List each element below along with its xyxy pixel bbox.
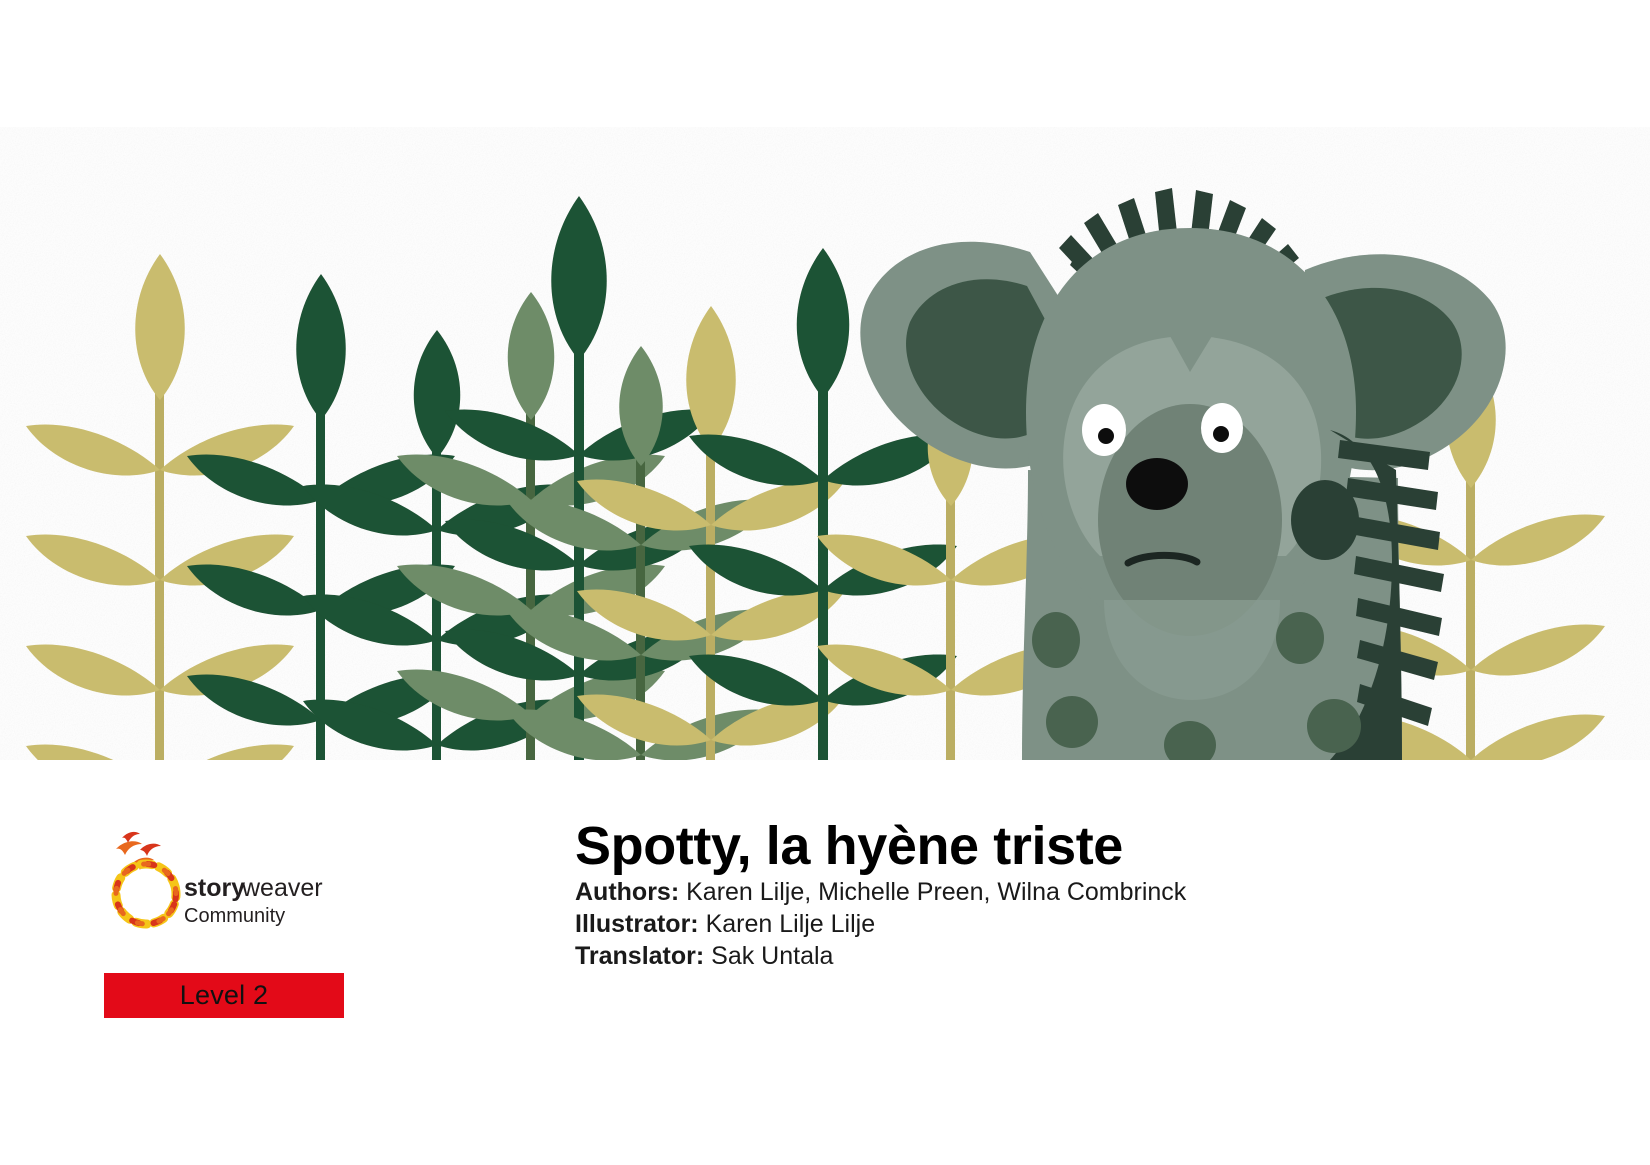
credit-illustrator-value: Karen Lilje Lilje: [706, 910, 876, 938]
credit-translator: Translator: Sak Untala: [575, 940, 1575, 972]
title-block: Spotty, la hyène triste Authors: Karen L…: [575, 818, 1575, 972]
storyweaver-logo-svg: story weaver Community: [104, 816, 332, 936]
credit-authors-value: Karen Lilje, Michelle Preen, Wilna Combr…: [686, 878, 1186, 906]
hyena-scene-svg: [0, 0, 1650, 760]
credit-translator-value: Sak Untala: [711, 942, 833, 970]
credit-authors: Authors: Karen Lilje, Michelle Preen, Wi…: [575, 876, 1575, 908]
credit-illustrator-label: Illustrator:: [575, 910, 699, 938]
cover-illustration: [0, 0, 1650, 760]
logo-tagline: Community: [184, 905, 285, 927]
logo-word-story: story: [184, 874, 245, 902]
cover-info-area: story weaver Community Level 2 Spotty, l…: [0, 760, 1650, 1165]
credit-translator-label: Translator:: [575, 942, 704, 970]
credit-illustrator: Illustrator: Karen Lilje Lilje: [575, 908, 1575, 940]
hyena-left-pupil: [1098, 428, 1114, 444]
hyena-nose: [1126, 458, 1188, 510]
credit-authors-label: Authors:: [575, 878, 679, 906]
hyena-right-pupil: [1213, 426, 1229, 442]
nest-ring-icon: [104, 852, 188, 936]
storyweaver-logo: story weaver Community: [104, 816, 332, 936]
level-badge-label: Level 2: [180, 980, 268, 1011]
level-badge: Level 2: [104, 973, 344, 1018]
logo-word-weaver: weaver: [241, 874, 323, 902]
book-title: Spotty, la hyène triste: [575, 818, 1575, 874]
